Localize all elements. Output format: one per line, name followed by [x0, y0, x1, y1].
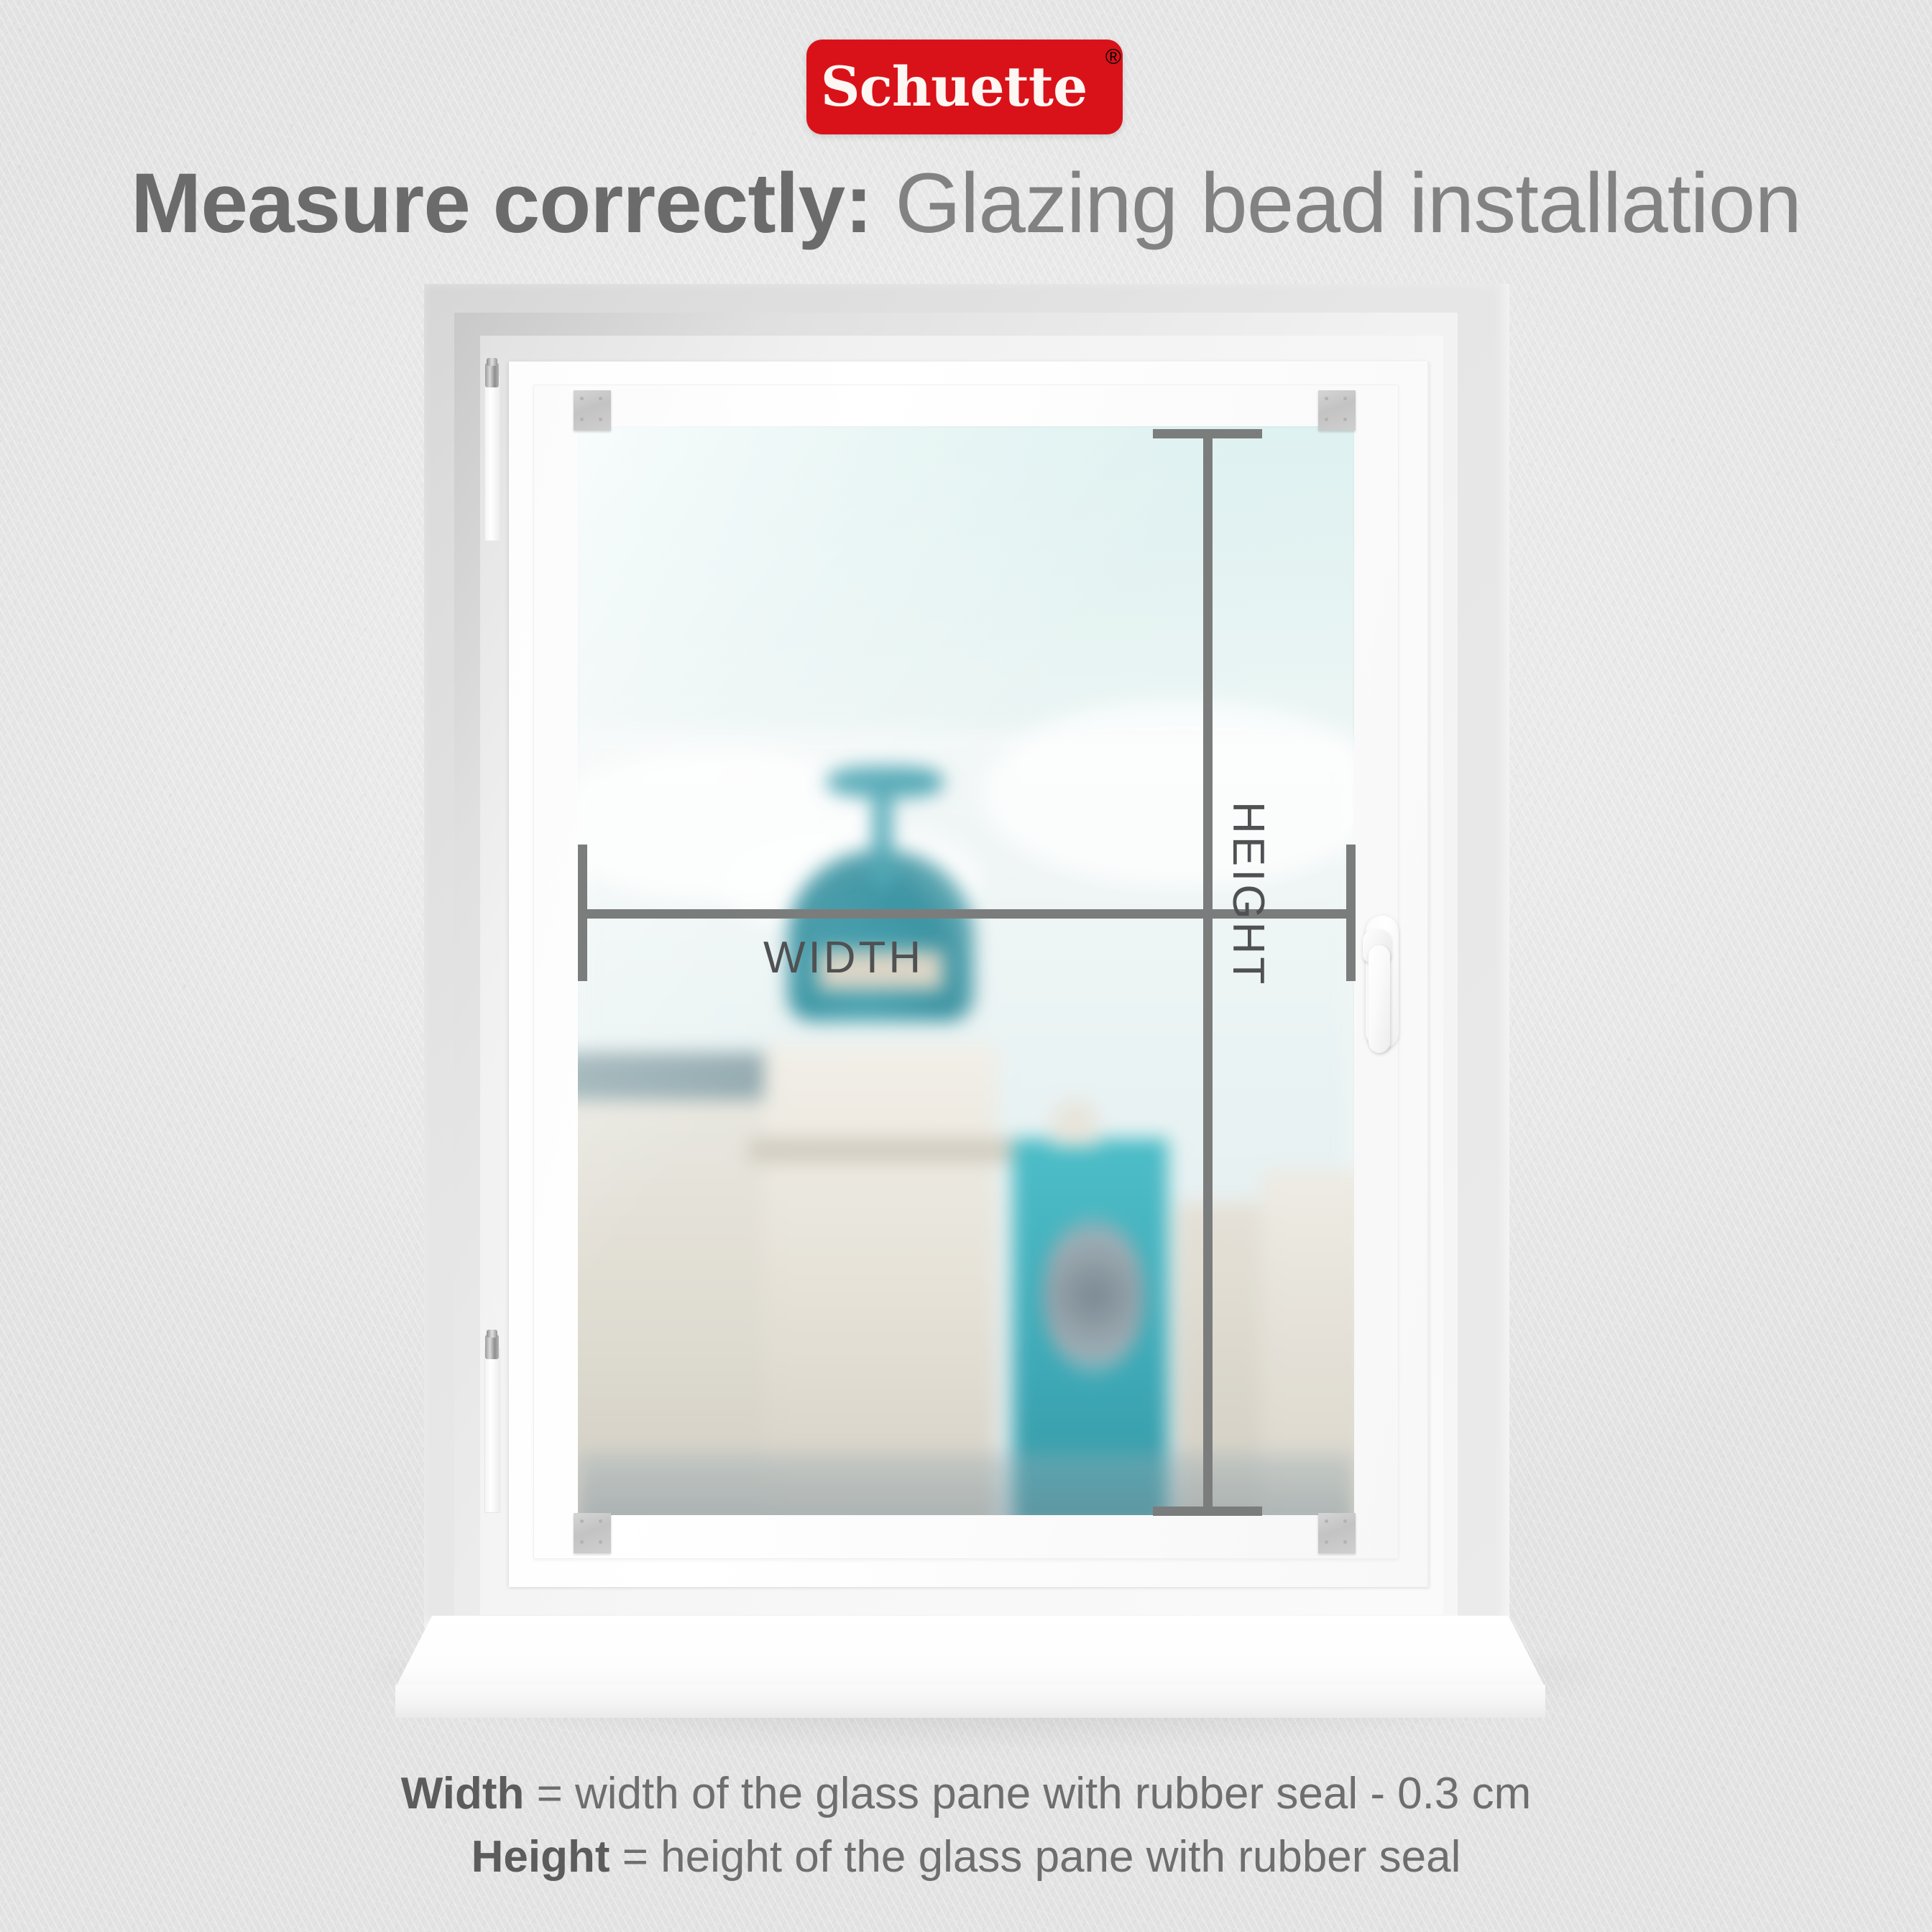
height-measure-endcap-bottom — [1153, 1506, 1262, 1516]
page-title-strong: Measure correctly: — [131, 156, 872, 251]
glazing-bead-bracket-top-left — [574, 390, 611, 431]
glazing-bead-bracket-top-right — [1318, 390, 1356, 431]
width-measure-endcap-left — [578, 845, 587, 981]
glazing-bead-bracket-bottom-left — [574, 1513, 611, 1553]
legend-row-height: Height = height of the glass pane with r… — [0, 1826, 1932, 1889]
window-sill-front — [395, 1685, 1545, 1718]
page-title: Measure correctly: Glazing bead installa… — [0, 160, 1932, 249]
hinge-strip-top — [484, 376, 500, 541]
legend-width-text: = width of the glass pane with rubber se… — [524, 1769, 1531, 1818]
legend-width-label: Width — [401, 1769, 525, 1818]
building-center-cornice — [749, 1138, 1013, 1162]
window-sill-top — [395, 1616, 1545, 1688]
measurement-legend: Width = width of the glass pane with rub… — [0, 1762, 1932, 1889]
window-handle-lever[interactable] — [1368, 945, 1390, 1053]
width-measure-label: WIDTH — [763, 932, 924, 983]
page-title-light: Glazing bead installation — [872, 156, 1801, 251]
street-haze — [578, 1453, 1354, 1515]
height-measure-line — [1203, 429, 1213, 1516]
building-right-cap — [1052, 1100, 1098, 1146]
statue-wings — [827, 766, 943, 798]
legend-height-label: Height — [471, 1832, 610, 1882]
window-frame: WIDTH HEIGHT — [509, 362, 1430, 1587]
hinge-pin-top-icon — [485, 363, 499, 387]
glazing-bead-bracket-bottom-right — [1318, 1513, 1356, 1553]
height-measure-endcap-top — [1153, 429, 1262, 438]
statue-pedestal — [873, 793, 892, 888]
infographic-canvas: Schuette ® Measure correctly: Glazing be… — [0, 0, 1932, 1932]
registered-trademark-icon: ® — [1105, 45, 1121, 70]
brand-logo-badge: Schuette ® — [806, 40, 1123, 134]
building-center-body — [764, 1045, 997, 1515]
window-illustration: WIDTH HEIGHT — [424, 284, 1509, 1650]
hinge-strip-bottom — [484, 1348, 500, 1513]
height-measure-label: HEIGHT — [1223, 801, 1274, 987]
hinge-pin-bottom-icon — [485, 1335, 499, 1359]
brand-name: Schuette — [821, 60, 1109, 114]
width-measure-endcap-right — [1346, 845, 1356, 981]
legend-row-width: Width = width of the glass pane with rub… — [0, 1762, 1932, 1826]
legend-height-text: = height of the glass pane with rubber s… — [609, 1832, 1460, 1882]
window-sash: WIDTH HEIGHT — [533, 385, 1399, 1559]
billboard-circle-graphic — [1044, 1217, 1144, 1374]
